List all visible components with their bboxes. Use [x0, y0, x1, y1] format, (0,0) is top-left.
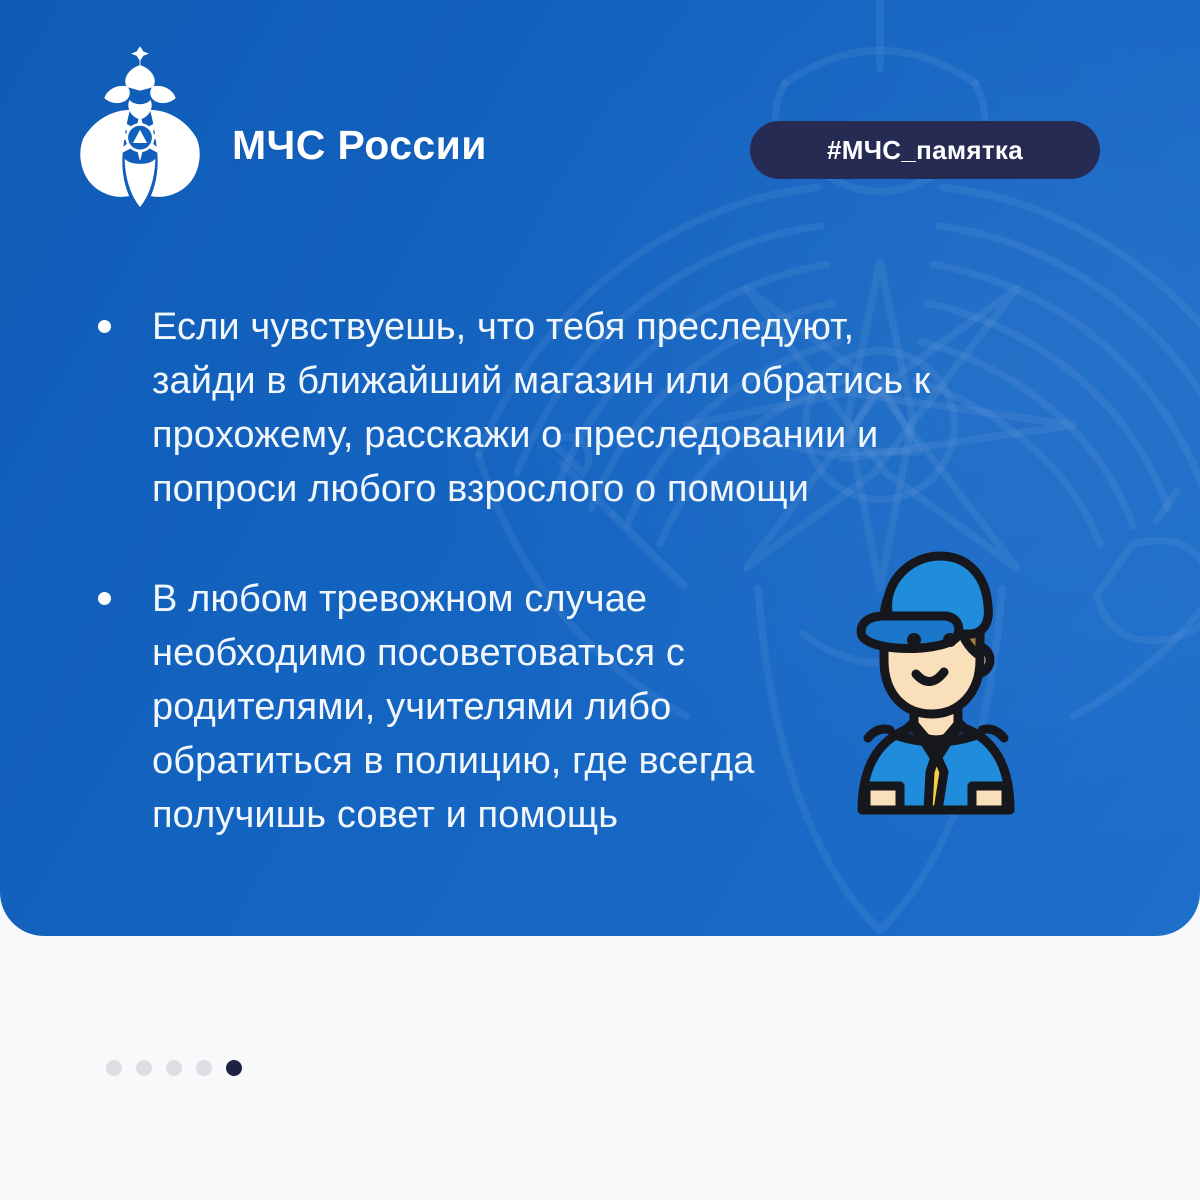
bullet-text: В любом тревожном случае необходимо посо…: [152, 572, 842, 842]
police-officer-avatar-icon: [840, 528, 1030, 818]
slide-canvas: МЧС России #МЧС_памятка Если чувствуешь,…: [0, 0, 1200, 1200]
mchs-eagle-emblem-logo-icon: [74, 44, 206, 212]
hashtag-badge-label: #МЧС_памятка: [827, 135, 1023, 166]
card-header: МЧС России #МЧС_памятка: [0, 0, 1200, 210]
bullet-dot-icon: [98, 320, 111, 333]
carousel-pagination[interactable]: [106, 1060, 242, 1076]
pagination-dot-2[interactable]: [136, 1060, 152, 1076]
page-title: МЧС России: [232, 122, 487, 169]
bullet-dot-icon: [98, 592, 111, 605]
pagination-dot-3[interactable]: [166, 1060, 182, 1076]
list-item: Если чувствуешь, что тебя преследуют, за…: [98, 300, 998, 516]
hashtag-badge[interactable]: #МЧС_памятка: [750, 121, 1100, 179]
bullet-text: Если чувствуешь, что тебя преследуют, за…: [152, 300, 952, 516]
pagination-dot-4[interactable]: [196, 1060, 212, 1076]
info-card: МЧС России #МЧС_памятка Если чувствуешь,…: [0, 0, 1200, 936]
pagination-dot-5-active[interactable]: [226, 1060, 242, 1076]
pagination-dot-1[interactable]: [106, 1060, 122, 1076]
